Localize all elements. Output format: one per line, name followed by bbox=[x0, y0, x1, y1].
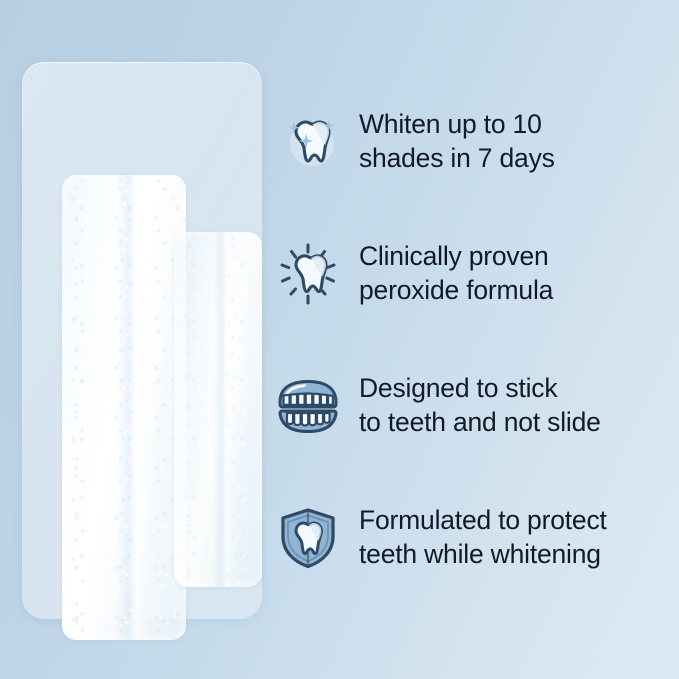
product-infographic: Whiten up to 10 shades in 7 days bbox=[0, 0, 679, 679]
dentures-icon bbox=[275, 373, 341, 439]
whitening-strip-large bbox=[62, 175, 186, 640]
whitening-strip-card bbox=[22, 62, 262, 619]
sparkling-tooth-icon bbox=[275, 109, 341, 175]
feature-row: Formulated to protect teeth while whiten… bbox=[275, 495, 665, 581]
feature-label: Clinically proven peroxide formula bbox=[359, 240, 553, 308]
gel-ridge-highlight bbox=[117, 175, 149, 640]
feature-list: Whiten up to 10 shades in 7 days bbox=[275, 0, 679, 679]
feature-label: Designed to stick to teeth and not slide bbox=[359, 372, 601, 440]
shining-tooth-icon bbox=[275, 241, 341, 307]
gel-ridge-highlight bbox=[213, 232, 236, 587]
whitening-strip-small bbox=[174, 232, 262, 587]
shield-tooth-icon bbox=[275, 505, 341, 571]
feature-row: Designed to stick to teeth and not slide bbox=[275, 363, 665, 449]
product-image-area bbox=[0, 0, 280, 679]
feature-row: Clinically proven peroxide formula bbox=[275, 231, 665, 317]
feature-label: Whiten up to 10 shades in 7 days bbox=[359, 108, 555, 176]
feature-label: Formulated to protect teeth while whiten… bbox=[359, 504, 607, 572]
feature-row: Whiten up to 10 shades in 7 days bbox=[275, 99, 665, 185]
